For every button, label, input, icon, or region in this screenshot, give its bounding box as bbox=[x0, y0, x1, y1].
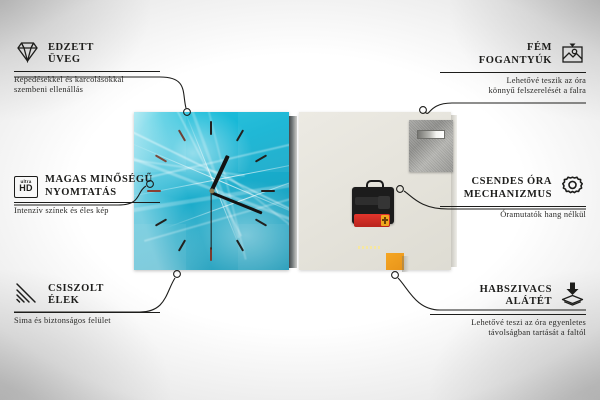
clock-hand-hub bbox=[209, 189, 214, 194]
product-photo bbox=[134, 112, 459, 270]
callout-subtitle: Intenzív színek és éles kép bbox=[14, 206, 160, 216]
callout-subtitle: Repedésekkel és karcolásokkalszembeni el… bbox=[14, 75, 160, 95]
callout-divider bbox=[440, 72, 586, 73]
callout-subtitle: Lehetővé teszik az órakönnyű felszerelés… bbox=[440, 76, 586, 96]
callout-divider bbox=[14, 71, 160, 72]
callout-subtitle: Lehetővé teszi az óra egyenletestávolság… bbox=[430, 318, 586, 338]
callout-magas-minosegu-nyomtatas[interactable]: ultra HD MAGAS MINŐSÉGŰNYOMTATÁS Intenzí… bbox=[14, 174, 160, 216]
picture-hanger-icon bbox=[559, 40, 586, 69]
clock-tick bbox=[210, 121, 212, 135]
callout-header: CSENDES ÓRAMECHANIZMUS bbox=[440, 174, 586, 203]
callout-title: HABSZIVACSALÁTÉT bbox=[480, 284, 552, 309]
ultra-hd-icon: ultra HD bbox=[14, 176, 38, 198]
callout-divider bbox=[14, 202, 160, 203]
callout-csiszolt-elek[interactable]: CSISZOLTÉLEK Sima és biztonságos felület bbox=[14, 281, 160, 326]
callout-fem-fogantyuk[interactable]: FÉMFOGANTYÚK Lehetővé teszik az órakönny… bbox=[440, 40, 586, 96]
callout-edzett-uveg[interactable]: EDZETTÜVEG Repedésekkel és karcolásokkal… bbox=[14, 40, 160, 95]
mechanism-body bbox=[352, 187, 394, 224]
infographic-canvas: EDZETTÜVEG Repedésekkel és karcolásokkal… bbox=[0, 0, 600, 400]
callout-divider bbox=[430, 314, 586, 315]
polished-edges-icon bbox=[14, 281, 41, 309]
callout-title: CSENDES ÓRAMECHANIZMUS bbox=[464, 176, 552, 201]
callout-title: EDZETTÜVEG bbox=[48, 42, 94, 67]
foam-pad-shadow bbox=[402, 256, 409, 272]
clock-tick bbox=[261, 190, 275, 192]
callout-header: CSISZOLTÉLEK bbox=[14, 281, 160, 309]
callout-divider bbox=[14, 312, 160, 313]
callout-header: EDZETTÜVEG bbox=[14, 40, 160, 68]
callout-title: FÉMFOGANTYÚK bbox=[479, 42, 552, 67]
callout-header: FÉMFOGANTYÚK bbox=[440, 40, 586, 69]
ultra-hd-icon-main: HD bbox=[19, 184, 32, 194]
callout-divider bbox=[440, 206, 586, 207]
foam-pad-icon bbox=[559, 281, 586, 311]
callout-header: ultra HD MAGAS MINŐSÉGŰNYOMTATÁS bbox=[14, 174, 160, 199]
diamond-icon bbox=[14, 40, 41, 68]
callout-title: CSISZOLTÉLEK bbox=[48, 283, 104, 308]
metal-hanger-plate bbox=[409, 120, 453, 172]
callout-subtitle: Óramutatók hang nélkül bbox=[440, 210, 586, 220]
callout-csendes-ora-mechanizmus[interactable]: CSENDES ÓRAMECHANIZMUS Óramutatók hang n… bbox=[440, 174, 586, 220]
clock-back bbox=[299, 112, 459, 270]
hanger-slot bbox=[417, 130, 445, 139]
gear-icon bbox=[559, 174, 586, 203]
quartz-mechanism bbox=[352, 180, 394, 224]
callout-header: HABSZIVACSALÁTÉT bbox=[430, 281, 586, 311]
battery-terminal bbox=[381, 215, 389, 226]
callout-title: MAGAS MINŐSÉGŰNYOMTATÁS bbox=[45, 174, 153, 199]
clock-second-hand bbox=[210, 192, 211, 250]
callout-habszivacs-alatet[interactable]: HABSZIVACSALÁTÉT Lehetővé teszi az óra e… bbox=[430, 281, 586, 338]
callout-subtitle: Sima és biztonságos felület bbox=[14, 316, 160, 326]
